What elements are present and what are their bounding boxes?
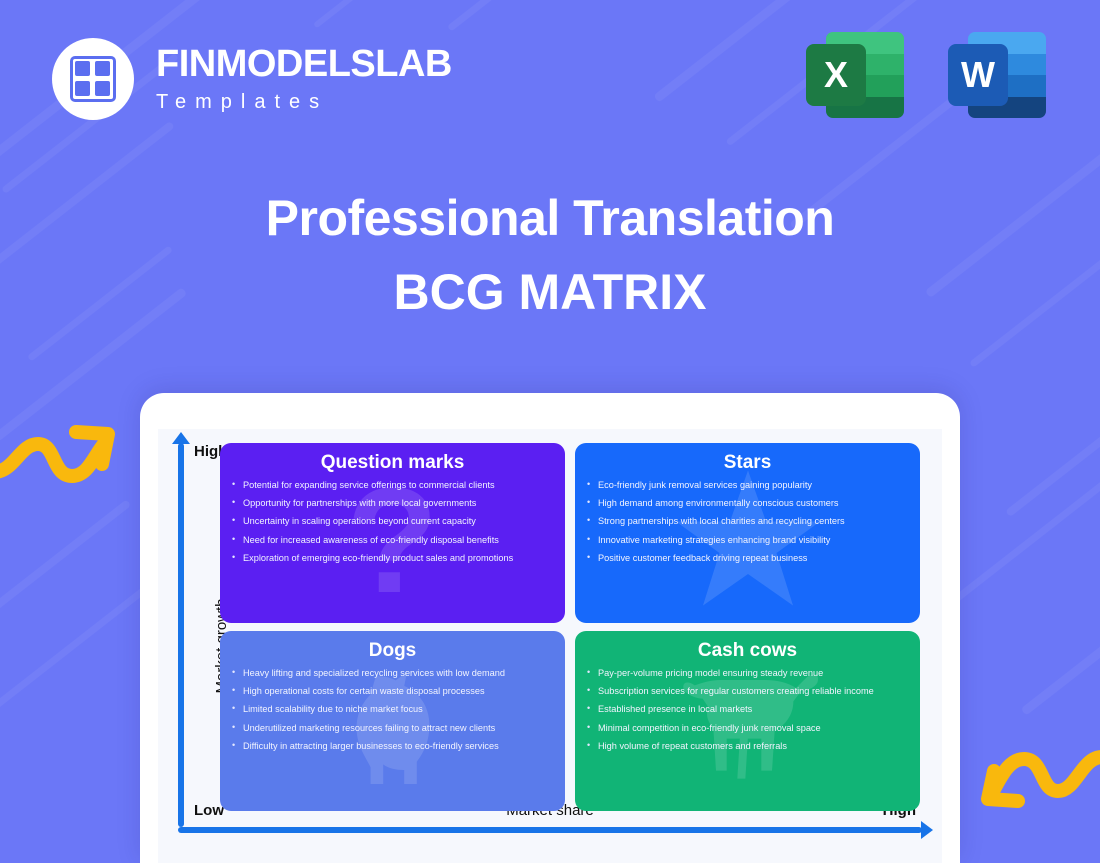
list-item: Underutilized marketing resources failin… — [232, 724, 553, 733]
format-icons: X W — [806, 26, 1046, 124]
list-item: Heavy lifting and specialized recycling … — [232, 669, 553, 678]
page-title: Professional Translation — [0, 190, 1100, 248]
brand-tagline: Templates — [156, 91, 452, 114]
quadrant-cash-cows[interactable]: Cash cows Pay-per-volume pricing model e… — [575, 631, 920, 811]
excel-icon-letter: X — [806, 44, 866, 106]
word-icon-letter: W — [948, 44, 1008, 106]
list-item: Established presence in local markets — [587, 705, 908, 714]
quadrant-item-list: Eco-friendly junk removal services gaini… — [587, 481, 908, 563]
list-item: Subscription services for regular custom… — [587, 687, 908, 696]
list-item: Innovative marketing strategies enhancin… — [587, 536, 908, 545]
quadrant-question-marks[interactable]: ? Question marks Potential for expanding… — [220, 443, 565, 623]
quadrant-title: Stars — [587, 453, 908, 472]
quadrant-dogs[interactable]: Dogs Heavy lifting and specialized recyc… — [220, 631, 565, 811]
quadrant-stars[interactable]: Stars Eco-friendly junk removal services… — [575, 443, 920, 623]
list-item: Difficulty in attracting larger business… — [232, 742, 553, 751]
list-item: Limited scalability due to niche market … — [232, 705, 553, 714]
page-title-block: Professional Translation BCG MATRIX — [0, 190, 1100, 321]
squiggly-arrow-up-right-icon — [0, 398, 122, 495]
word-icon: W — [948, 26, 1046, 124]
header: FINMODELSLAB Templates X W — [0, 0, 1100, 160]
grid-icon — [74, 60, 112, 98]
quadrant-item-list: Heavy lifting and specialized recycling … — [232, 669, 553, 751]
list-item: Exploration of emerging eco-friendly pro… — [232, 554, 553, 563]
quadrant-title: Cash cows — [587, 641, 908, 660]
brand-name: FINMODELSLAB — [156, 45, 452, 83]
list-item: High demand among environmentally consci… — [587, 499, 908, 508]
list-item: High volume of repeat customers and refe… — [587, 742, 908, 751]
list-item: Positive customer feedback driving repea… — [587, 554, 908, 563]
list-item: High operational costs for certain waste… — [232, 687, 553, 696]
quadrant-grid: ? Question marks Potential for expanding… — [220, 443, 920, 811]
logo-badge — [52, 38, 134, 120]
list-item: Need for increased awareness of eco-frie… — [232, 536, 553, 545]
excel-icon: X — [806, 26, 904, 124]
list-item: Pay-per-volume pricing model ensuring st… — [587, 669, 908, 678]
quadrant-item-list: Potential for expanding service offering… — [232, 481, 553, 563]
quadrant-item-list: Pay-per-volume pricing model ensuring st… — [587, 669, 908, 751]
y-axis-arrow — [178, 443, 184, 827]
list-item: Opportunity for partnerships with more l… — [232, 499, 553, 508]
bcg-matrix: High Market growth Low Market share High… — [158, 429, 942, 863]
quadrant-title: Question marks — [232, 453, 553, 472]
list-item: Strong partnerships with local charities… — [587, 517, 908, 526]
brand-logo: FINMODELSLAB Templates — [52, 38, 452, 120]
matrix-card: High Market growth Low Market share High… — [140, 393, 960, 863]
quadrant-title: Dogs — [232, 641, 553, 660]
list-item: Uncertainty in scaling operations beyond… — [232, 517, 553, 526]
x-axis-arrow — [178, 827, 922, 833]
page-subtitle: BCG MATRIX — [0, 264, 1100, 322]
list-item: Minimal competition in eco-friendly junk… — [587, 724, 908, 733]
squiggly-arrow-down-left-icon — [974, 735, 1100, 832]
list-item: Potential for expanding service offering… — [232, 481, 553, 490]
list-item: Eco-friendly junk removal services gaini… — [587, 481, 908, 490]
